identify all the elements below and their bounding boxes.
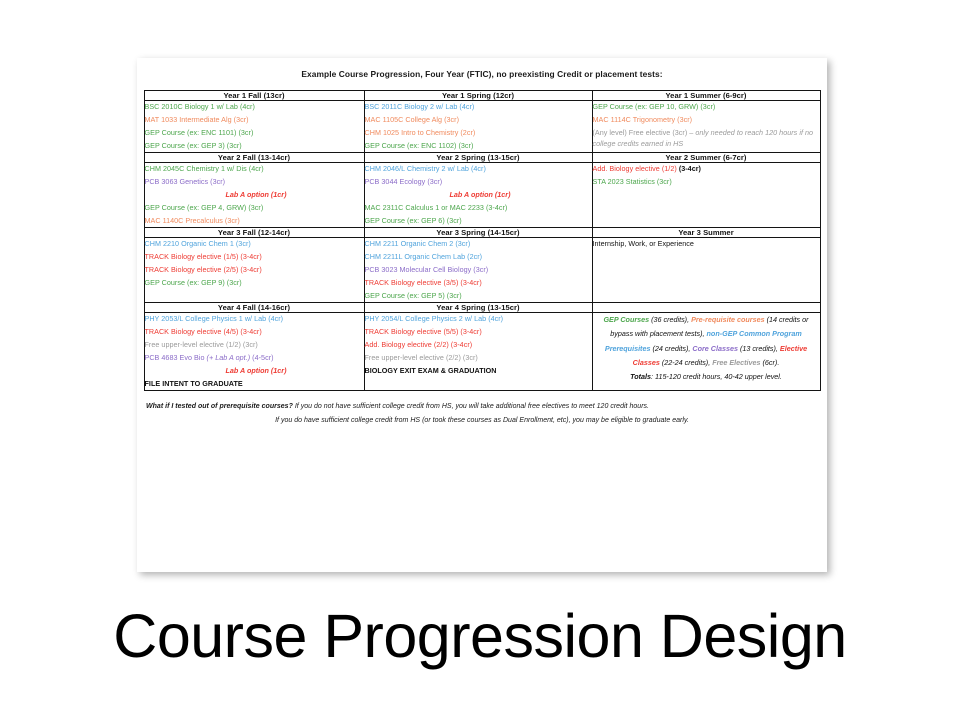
course-text: Add. Biology elective (2/2) (3-4cr) [365,340,473,349]
lab-option-line: Lab A option (1cr) [145,189,364,202]
legend-totals-label: Totals [630,372,651,381]
note-answer-1: If you do not have sufficient college cr… [293,403,649,410]
course-text: TRACK Biology elective (4/5) (3-4cr) [145,327,262,336]
lab-option-line: Lab A option (1cr) [145,365,364,378]
table-header-row: Year 3 Fall (12-14cr)Year 3 Spring (14-1… [144,228,820,238]
course-text: Add. Biology elective (1/2) [593,164,679,173]
course-line: PHY 2054/L College Physics 2 w/ Lab (4cr… [365,313,592,326]
course-progression-table: Year 1 Fall (13cr)Year 1 Spring (12cr)Ye… [144,90,821,391]
column-header: Year 4 Fall (14-16cr) [144,303,364,313]
course-text-italic: (+ Lab A opt.) [207,353,251,362]
course-line: Free upper-level elective (2/2) (3cr) [365,352,592,365]
legend-totals: Totals: 115-120 credit hours, 40-42 uppe… [593,370,820,384]
column-header: Year 3 Summer [592,228,820,238]
course-text: (Any level) Free elective (3cr) [593,128,690,137]
course-line: TRACK Biology elective (3/5) (3-4cr) [365,277,592,290]
term-cell: GEP Course (ex: GEP 10, GRW) (3cr)MAC 11… [592,101,820,153]
course-text-suffix: (4-5cr) [250,353,273,362]
column-header: Year 2 Spring (13-15cr) [364,153,592,163]
table-row: CHM 2045C Chemistry 1 w/ Dis (4cr)PCB 30… [144,163,820,228]
course-progression-card: Example Course Progression, Four Year (F… [137,58,827,572]
course-line: CHM 2211 Organic Chem 2 (3cr) [365,238,592,251]
course-text: MAC 2311C Calculus 1 or MAC 2233 (3-4cr) [365,203,508,212]
course-line: MAC 1140C Precalculus (3cr) [145,215,364,228]
legend-segment: (13 credits), [738,344,780,353]
course-line: GEP Course (ex: ENC 1102) (3cr) [365,140,592,153]
table-row: BSC 2010C Biology 1 w/ Lab (4cr)MAT 1033… [144,101,820,153]
term-cell: Add. Biology elective (1/2) (3-4cr)STA 2… [592,163,820,228]
course-line: TRACK Biology elective (1/5) (3-4cr) [145,251,364,264]
course-line: PCB 3044 Ecology (3cr) [365,176,592,189]
course-line: PCB 3063 Genetics (3cr) [145,176,364,189]
legend-segment: (36 credits), [649,315,691,324]
table-row: CHM 2210 Organic Chem 1 (3cr)TRACK Biolo… [144,238,820,303]
table-row: PHY 2053/L College Physics 1 w/ Lab (4cr… [144,313,820,391]
course-text: CHM 2211 Organic Chem 2 (3cr) [365,239,471,248]
course-line: GEP Course (ex: GEP 4, GRW) (3cr) [145,202,364,215]
course-text: Free upper-level elective (1/2) (3cr) [145,340,258,349]
course-line: PCB 4683 Evo Bio (+ Lab A opt.) (4-5cr) [145,352,364,365]
course-line: MAC 1114C Trigonometry (3cr) [593,114,820,127]
note-question: What if I tested out of prerequisite cou… [146,403,293,410]
course-line: GEP Course (ex: GEP 10, GRW) (3cr) [593,101,820,114]
column-header: Year 2 Summer (6-7cr) [592,153,820,163]
course-text: BSC 2010C Biology 1 w/ Lab (4cr) [145,102,255,111]
course-line: Internship, Work, or Experience [593,238,820,251]
column-header: Year 1 Summer (6-9cr) [592,91,820,101]
course-text: CHM 2046/L Chemistry 2 w/ Lab (4cr) [365,164,486,173]
course-text: GEP Course (ex: GEP 3) (3cr) [145,141,242,150]
table-header-row: Year 1 Fall (13cr)Year 1 Spring (12cr)Ye… [144,91,820,101]
course-text: PHY 2054/L College Physics 2 w/ Lab (4cr… [365,314,504,323]
footer-notes: What if I tested out of prerequisite cou… [144,400,820,427]
course-line: FILE INTENT TO GRADUATE [145,378,364,391]
legend-segment: Free Electives [712,358,760,367]
course-text: TRACK Biology elective (5/5) (3-4cr) [365,327,482,336]
term-cell: BSC 2011C Biology 2 w/ Lab (4cr)MAC 1105… [364,101,592,153]
course-line: Add. Biology elective (1/2) (3-4cr) [593,163,820,176]
course-text: GEP Course (ex: GEP 10, GRW) (3cr) [593,102,716,111]
course-text: CHM 2211L Organic Chem Lab (2cr) [365,252,483,261]
column-header: Year 1 Fall (13cr) [144,91,364,101]
course-text: GEP Course (ex: GEP 5) (3cr) [365,291,462,300]
legend-segment: Core Classes [692,344,738,353]
course-line: MAC 2311C Calculus 1 or MAC 2233 (3-4cr) [365,202,592,215]
course-line: (Any level) Free elective (3cr) – only n… [593,127,820,149]
slide-title: Course Progression Design [0,606,960,667]
course-text: MAC 1140C Precalculus (3cr) [145,216,240,225]
legend-text: GEP Courses (36 credits), Pre-requisite … [593,313,820,369]
course-text: TRACK Biology elective (2/5) (3-4cr) [145,265,262,274]
course-line: CHM 2045C Chemistry 1 w/ Dis (4cr) [145,163,364,176]
course-line: GEP Course (ex: ENC 1101) (3cr) [145,127,364,140]
course-line: PHY 2053/L College Physics 1 w/ Lab (4cr… [145,313,364,326]
course-text: BSC 2011C Biology 2 w/ Lab (4cr) [365,102,475,111]
column-header: Year 3 Spring (14-15cr) [364,228,592,238]
course-text: FILE INTENT TO GRADUATE [145,379,243,388]
term-cell: PHY 2054/L College Physics 2 w/ Lab (4cr… [364,313,592,391]
course-text: GEP Course (ex: ENC 1101) (3cr) [145,128,254,137]
term-cell: CHM 2045C Chemistry 1 w/ Dis (4cr)PCB 30… [144,163,364,228]
column-header: Year 3 Fall (12-14cr) [144,228,364,238]
course-text: PCB 3023 Molecular Cell Biology (3cr) [365,265,489,274]
course-line: STA 2023 Statistics (3cr) [593,176,820,189]
course-text: CHM 2210 Organic Chem 1 (3cr) [145,239,251,248]
course-text: MAC 1105C College Alg (3cr) [365,115,460,124]
course-line: CHM 2046/L Chemistry 2 w/ Lab (4cr) [365,163,592,176]
course-text: TRACK Biology elective (1/5) (3-4cr) [145,252,262,261]
course-text: CHM 1025 Intro to Chemistry (2cr) [365,128,476,137]
course-text: PCB 3044 Ecology (3cr) [365,177,443,186]
course-text: PHY 2053/L College Physics 1 w/ Lab (4cr… [145,314,284,323]
course-text: MAT 1033 Intermediate Alg (3cr) [145,115,249,124]
term-cell: Internship, Work, or Experience [592,238,820,303]
course-text: PCB 4683 Evo Bio [145,353,207,362]
card-heading: Example Course Progression, Four Year (F… [137,58,827,79]
legend-segment: GEP Courses [603,315,649,324]
course-line: GEP Course (ex: GEP 5) (3cr) [365,290,592,303]
course-line: TRACK Biology elective (5/5) (3-4cr) [365,326,592,339]
course-line: PCB 3023 Molecular Cell Biology (3cr) [365,264,592,277]
course-text: PCB 3063 Genetics (3cr) [145,177,226,186]
term-cell: PHY 2053/L College Physics 1 w/ Lab (4cr… [144,313,364,391]
course-line: MAT 1033 Intermediate Alg (3cr) [145,114,364,127]
course-line: MAC 1105C College Alg (3cr) [365,114,592,127]
course-line: BSC 2010C Biology 1 w/ Lab (4cr) [145,101,364,114]
column-header: Year 1 Spring (12cr) [364,91,592,101]
term-cell: CHM 2046/L Chemistry 2 w/ Lab (4cr)PCB 3… [364,163,592,228]
course-line: Add. Biology elective (2/2) (3-4cr) [365,339,592,352]
note-line-2: If you do have sufficient college credit… [144,414,820,428]
course-line: CHM 1025 Intro to Chemistry (2cr) [365,127,592,140]
term-cell: CHM 2211 Organic Chem 2 (3cr)CHM 2211L O… [364,238,592,303]
course-line: BSC 2011C Biology 2 w/ Lab (4cr) [365,101,592,114]
legend-segment: (24 credits), [650,344,692,353]
course-text: BIOLOGY EXIT EXAM & GRADUATION [365,366,497,375]
column-header: Year 4 Spring (13-15cr) [364,303,592,313]
course-text: GEP Course (ex: GEP 6) (3cr) [365,216,462,225]
legend-cell: GEP Courses (36 credits), Pre-requisite … [592,313,820,391]
course-text: GEP Course (ex: ENC 1102) (3cr) [365,141,474,150]
course-text: TRACK Biology elective (3/5) (3-4cr) [365,278,482,287]
course-line: BIOLOGY EXIT EXAM & GRADUATION [365,365,592,378]
course-text: GEP Course (ex: GEP 4, GRW) (3cr) [145,203,264,212]
slide: Example Course Progression, Four Year (F… [0,0,960,720]
term-cell: BSC 2010C Biology 1 w/ Lab (4cr)MAT 1033… [144,101,364,153]
legend-segment: (22-24 credits), [660,358,712,367]
course-text-suffix: (3-4cr) [679,164,701,173]
course-line: TRACK Biology elective (2/5) (3-4cr) [145,264,364,277]
term-cell: CHM 2210 Organic Chem 1 (3cr)TRACK Biolo… [144,238,364,303]
course-line: GEP Course (ex: GEP 3) (3cr) [145,140,364,153]
table-body: Year 1 Fall (13cr)Year 1 Spring (12cr)Ye… [144,91,820,391]
course-text: Free upper-level elective (2/2) (3cr) [365,353,478,362]
course-line: CHM 2210 Organic Chem 1 (3cr) [145,238,364,251]
column-header [592,303,820,313]
course-text: GEP Course (ex: GEP 9) (3cr) [145,278,242,287]
course-line: GEP Course (ex: GEP 6) (3cr) [365,215,592,228]
course-text: CHM 2045C Chemistry 1 w/ Dis (4cr) [145,164,264,173]
course-text: MAC 1114C Trigonometry (3cr) [593,115,693,124]
lab-option-line: Lab A option (1cr) [365,189,592,202]
course-line: TRACK Biology elective (4/5) (3-4cr) [145,326,364,339]
course-line: Free upper-level elective (1/2) (3cr) [145,339,364,352]
course-text: Internship, Work, or Experience [593,239,694,248]
table-header-row: Year 4 Fall (14-16cr)Year 4 Spring (13-1… [144,303,820,313]
course-line: GEP Course (ex: GEP 9) (3cr) [145,277,364,290]
table-header-row: Year 2 Fall (13-14cr)Year 2 Spring (13-1… [144,153,820,163]
column-header: Year 2 Fall (13-14cr) [144,153,364,163]
legend-segment: (6cr). [761,358,780,367]
course-line: CHM 2211L Organic Chem Lab (2cr) [365,251,592,264]
course-text: STA 2023 Statistics (3cr) [593,177,672,186]
legend-segment: Pre-requisite courses [691,315,765,324]
note-line-1: What if I tested out of prerequisite cou… [144,400,820,414]
legend-totals-text: : 115-120 credit hours, 40-42 upper leve… [651,372,782,381]
